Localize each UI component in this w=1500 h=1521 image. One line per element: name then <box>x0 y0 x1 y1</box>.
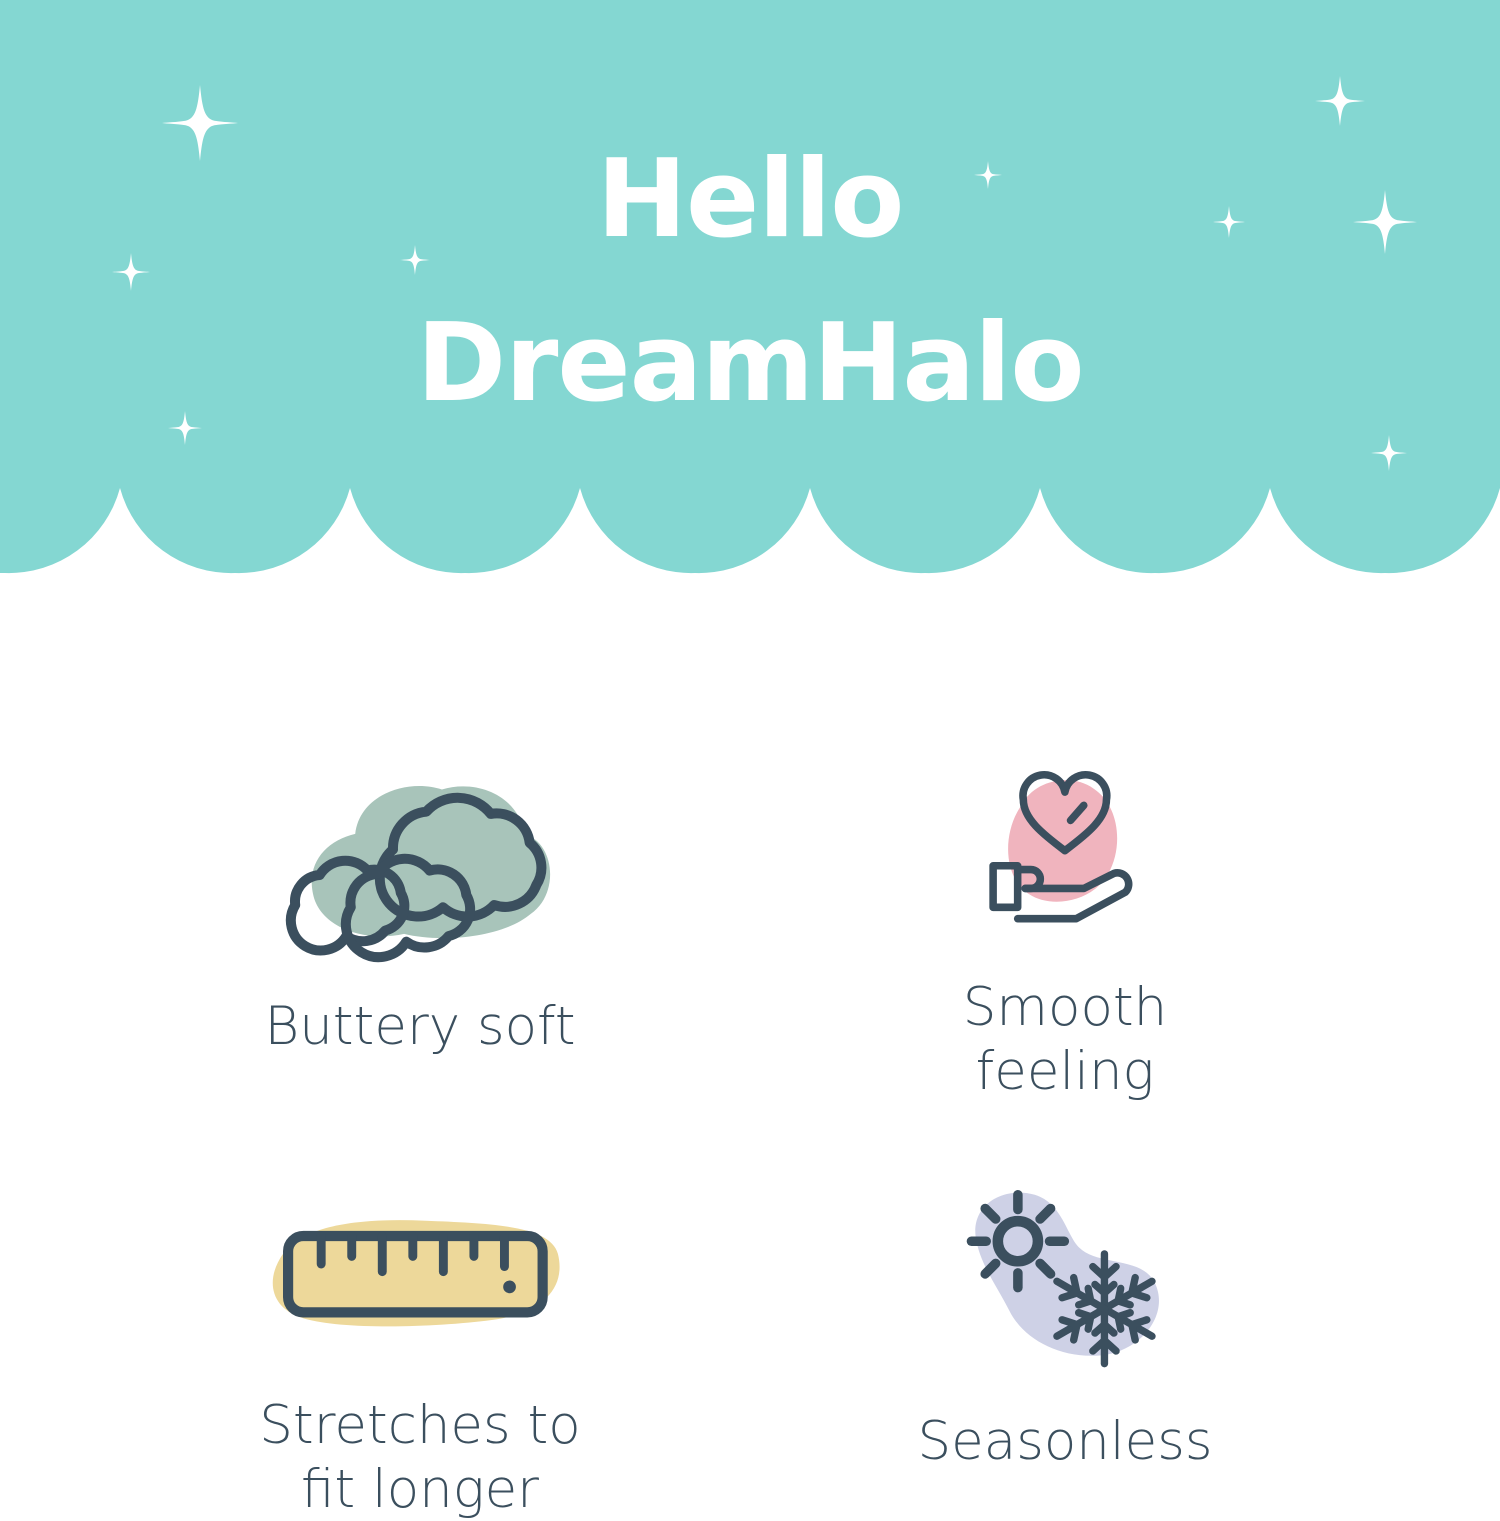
hero-banner: Hello DreamHalo <box>0 0 1500 580</box>
ruler-icon <box>255 1208 586 1348</box>
feature-label-buttery-soft: Buttery soft <box>190 995 650 1059</box>
hand-holding-heart-icon <box>961 760 1169 930</box>
feature-item-smooth-feeling: Smooth feeling <box>835 760 1295 1103</box>
feature-item-seasonless: Seasonless <box>835 1180 1295 1474</box>
feature-label-smooth-feeling: Smooth feeling <box>835 976 1295 1103</box>
feature-label-seasonless: Seasonless <box>835 1410 1295 1474</box>
feature-label-stretches-to-fit-longer: Stretches to fit longer <box>190 1394 650 1521</box>
hand-cuff <box>993 866 1018 908</box>
hero-title-line1: Hello <box>597 137 904 262</box>
sun-snowflake-icon <box>944 1180 1187 1370</box>
feature-item-stretches-to-fit-longer: Stretches to fit longer <box>190 1208 650 1521</box>
hero-title: Hello DreamHalo <box>0 118 1500 446</box>
hero-title-line2: DreamHalo <box>0 282 1500 446</box>
ruler-dot <box>503 1281 516 1294</box>
feature-grid: Buttery soft Smooth feeling <box>0 580 1500 1492</box>
feature-item-buttery-soft: Buttery soft <box>190 765 650 1059</box>
cloud-icon <box>253 765 586 965</box>
